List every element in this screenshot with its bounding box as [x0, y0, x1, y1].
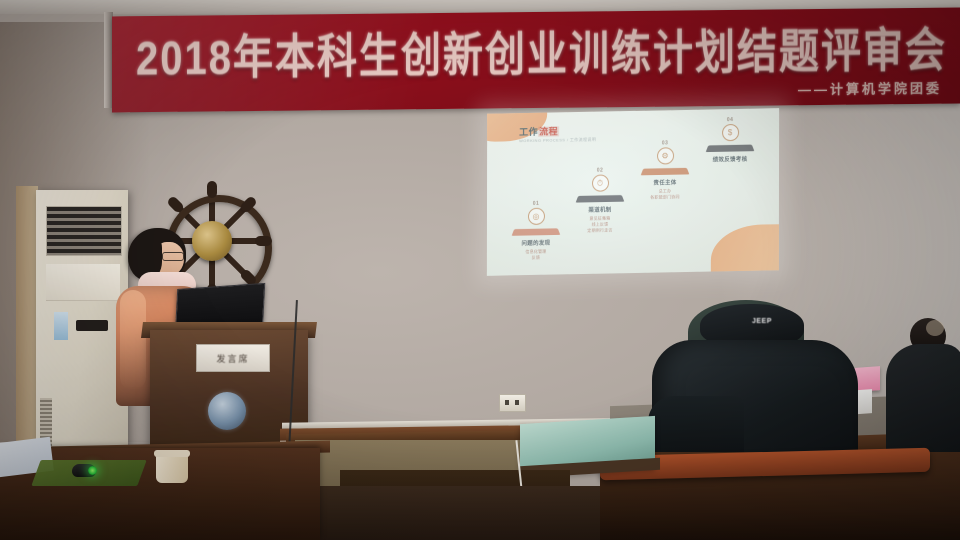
- conference-room-photo: 2018年本科生创新创业训练计划结题评审会 ——计算机学院团委 工作流程 WOR…: [0, 0, 960, 540]
- attendee-hair-highlight: [926, 320, 944, 336]
- target-icon: ◎: [527, 208, 544, 225]
- wheel-handle: [255, 236, 272, 246]
- step-platform: [641, 168, 690, 176]
- step-platform: [576, 195, 625, 203]
- wheel-handle: [207, 181, 217, 198]
- step-bullets: 意见征集箱 线上反馈 定期例行走访: [567, 215, 633, 234]
- projection-screen: 工作流程 WORKING PROCESS / 工作流程说明 01 ◎ 问题的发现…: [487, 108, 779, 276]
- slide-decor-bottom-right: [711, 224, 779, 276]
- step-label: 问题的发现: [505, 238, 567, 247]
- step-bullets: 信息化管理 反馈: [505, 248, 567, 261]
- cap-logo-text: JEEP: [752, 318, 772, 325]
- paper-cup: [156, 453, 188, 483]
- step-number: 03: [633, 140, 697, 147]
- ac-front-panel: [46, 264, 120, 301]
- air-conditioner-side: [16, 186, 38, 452]
- dollar-icon: $: [722, 124, 739, 141]
- slide-title-static: 工作: [519, 127, 538, 137]
- ac-sticker: [54, 312, 68, 340]
- mouse-led-icon: [88, 466, 97, 475]
- paper-cup-lid: [154, 450, 190, 457]
- slide-step-2: 02 ⏱ 渠道机制 意见征集箱 线上反馈 定期例行走访: [567, 167, 633, 234]
- step-bullet: 各职能部门协同: [633, 194, 697, 201]
- banner-subline: ——计算机学院团委: [798, 78, 942, 99]
- slide-step-4: 04 $ 绩效反馈考核: [695, 116, 765, 163]
- event-banner: 2018年本科生创新创业训练计划结题评审会 ——计算机学院团委: [112, 8, 960, 113]
- step-platform: [512, 228, 561, 236]
- glasses-icon: [162, 252, 184, 261]
- slide-step-3: 03 ⚙ 责任主体 总工办 各职能部门协同: [633, 140, 697, 201]
- podium-sign-label: 发言席: [216, 352, 249, 365]
- step-label: 责任主体: [633, 178, 697, 187]
- ac-display: [76, 320, 108, 331]
- slide-subtitle: WORKING PROCESS / 工作流程说明: [519, 137, 596, 144]
- slide-title-highlight: 流程: [538, 126, 559, 136]
- step-platform: [706, 145, 755, 153]
- clock-icon: ⏱: [592, 174, 609, 191]
- step-bullet: 反馈: [505, 254, 567, 261]
- podium-sign: 发言席: [196, 344, 270, 372]
- slide-title: 工作流程: [519, 124, 559, 138]
- presenter-coat-highlight: [120, 290, 146, 390]
- step-number: 02: [567, 167, 633, 174]
- university-emblem-icon: [208, 392, 246, 430]
- slide-step-1: 01 ◎ 问题的发现 信息化管理 反馈: [505, 200, 567, 261]
- step-number: 01: [505, 200, 567, 207]
- gear-icon: ⚙: [657, 147, 674, 164]
- step-bullets: 总工办 各职能部门协同: [633, 188, 697, 201]
- power-outlet-icon: [499, 394, 526, 412]
- step-bullet: 定期例行走访: [567, 227, 633, 234]
- step-label: 绩效反馈考核: [695, 154, 765, 163]
- step-number: 04: [695, 116, 765, 123]
- banner-headline: 2018年本科生创新创业训练计划结题评审会: [136, 24, 936, 87]
- step-label: 渠道机制: [567, 205, 633, 214]
